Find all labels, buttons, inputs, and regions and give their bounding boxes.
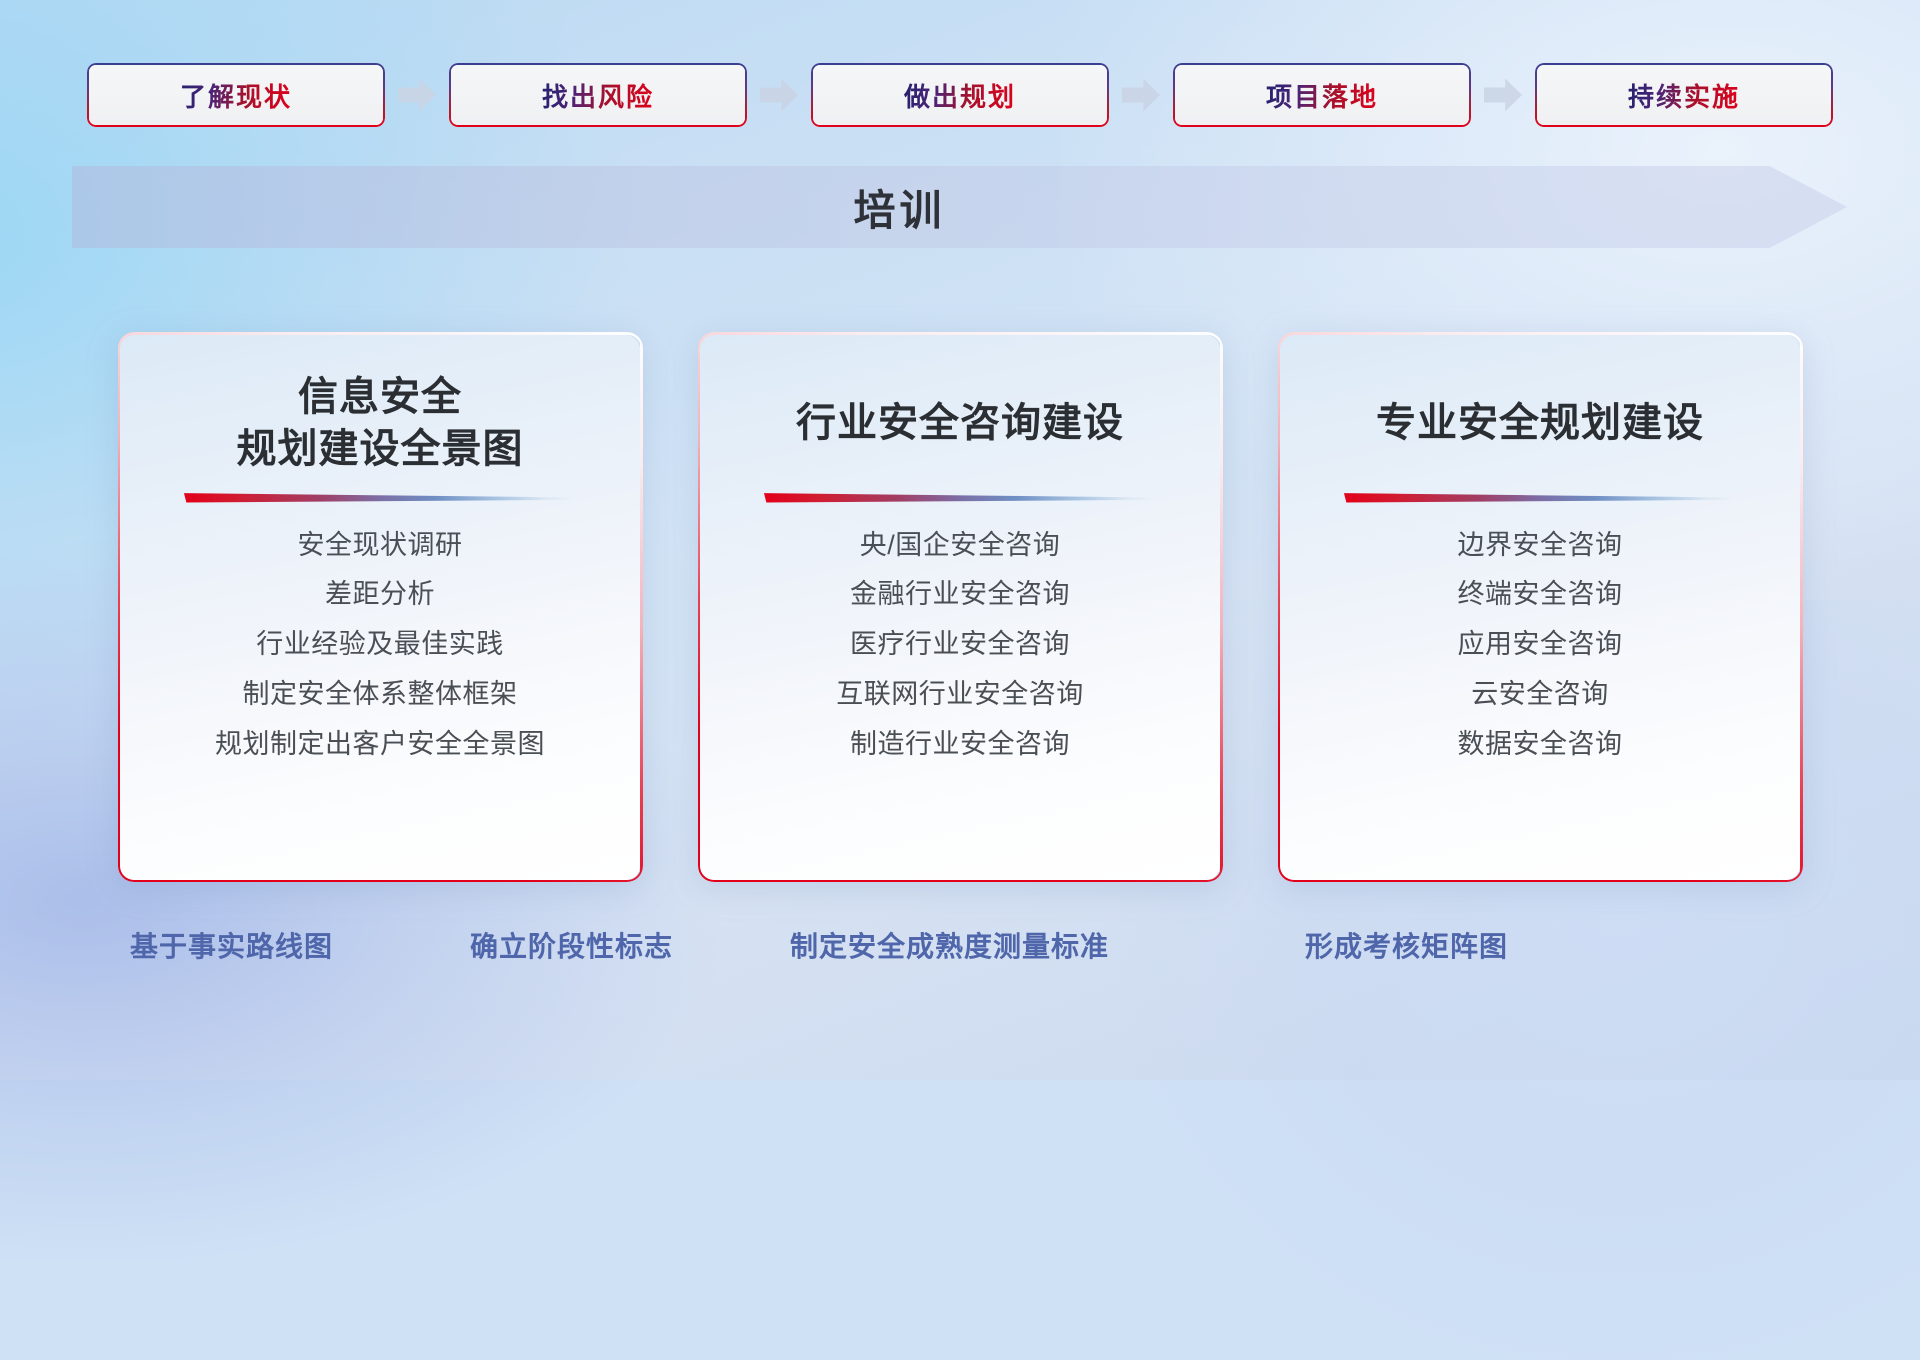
step-button-face: 了解现状 — [89, 65, 383, 125]
footer-label-3: 制定安全成熟度测量标准 — [790, 925, 1109, 965]
step-arrow-icon — [398, 78, 436, 112]
step-arrow-icon — [1122, 78, 1160, 112]
card-list-item: 数据安全咨询 — [1458, 724, 1623, 766]
card-item-list: 央/国企安全咨询金融行业安全咨询医疗行业安全咨询互联网行业安全咨询制造行业安全咨… — [726, 525, 1194, 766]
step-button-3[interactable]: 做出规划 — [811, 63, 1109, 127]
card-title-line: 信息安全 — [237, 371, 524, 423]
card-divider-shape — [1344, 491, 1736, 503]
card-list-item: 差距分析 — [325, 574, 435, 616]
card-list-item: 规划制定出客户安全全景图 — [215, 724, 545, 766]
card-list-item: 应用安全咨询 — [1458, 624, 1623, 666]
step-label: 持续实施 — [1628, 77, 1740, 114]
footer-labels: 基于事实路线图确立阶段性标志制定安全成熟度测量标准形成考核矩阵图 — [0, 925, 1920, 985]
card-title: 专业安全规划建设 — [1376, 371, 1704, 475]
card-list-item: 安全现状调研 — [298, 525, 463, 567]
step-button-1[interactable]: 了解现状 — [87, 63, 385, 127]
footer-label-1: 基于事实路线图 — [130, 925, 333, 965]
card-body: 行业安全咨询建设央/国企安全咨询金融行业安全咨询医疗行业安全咨询互联网行业安全咨… — [700, 335, 1220, 880]
footer-label-2: 确立阶段性标志 — [470, 925, 673, 965]
step-button-5[interactable]: 持续实施 — [1535, 63, 1833, 127]
card-divider — [184, 491, 576, 503]
card-body: 信息安全规划建设全景图安全现状调研差距分析行业经验及最佳实践制定安全体系整体框架… — [120, 335, 640, 880]
card-divider-shape — [184, 491, 576, 503]
card-body: 专业安全规划建设边界安全咨询终端安全咨询应用安全咨询云安全咨询数据安全咨询 — [1280, 335, 1800, 880]
capability-card-3[interactable]: 专业安全规划建设边界安全咨询终端安全咨询应用安全咨询云安全咨询数据安全咨询 — [1278, 332, 1803, 882]
step-button-4[interactable]: 项目落地 — [1173, 63, 1471, 127]
card-title: 行业安全咨询建设 — [796, 371, 1124, 475]
card-divider — [764, 491, 1156, 503]
card-list-item: 金融行业安全咨询 — [850, 574, 1070, 616]
card-list-item: 制造行业安全咨询 — [850, 724, 1070, 766]
step-button-face: 做出规划 — [813, 65, 1107, 125]
card-list-item: 医疗行业安全咨询 — [850, 624, 1070, 666]
training-banner-label: 培训 — [853, 177, 945, 238]
capability-card-2[interactable]: 行业安全咨询建设央/国企安全咨询金融行业安全咨询医疗行业安全咨询互联网行业安全咨… — [698, 332, 1223, 882]
card-list-item: 行业经验及最佳实践 — [256, 624, 504, 666]
card-title-line: 规划建设全景图 — [237, 423, 524, 475]
footer-label-4: 形成考核矩阵图 — [1305, 925, 1508, 965]
step-arrow-icon — [760, 78, 798, 112]
step-button-face: 项目落地 — [1175, 65, 1469, 125]
card-list-item: 终端安全咨询 — [1458, 574, 1623, 616]
step-button-2[interactable]: 找出风险 — [449, 63, 747, 127]
step-button-face: 找出风险 — [451, 65, 745, 125]
step-label: 做出规划 — [904, 77, 1016, 114]
card-list-item: 互联网行业安全咨询 — [836, 674, 1084, 716]
capability-cards: 信息安全规划建设全景图安全现状调研差距分析行业经验及最佳实践制定安全体系整体框架… — [0, 332, 1920, 892]
card-title-line: 行业安全咨询建设 — [796, 397, 1124, 449]
step-label: 项目落地 — [1266, 77, 1378, 114]
card-list-item: 云安全咨询 — [1471, 674, 1609, 716]
card-list-item: 央/国企安全咨询 — [860, 525, 1061, 567]
step-label: 了解现状 — [180, 77, 292, 114]
card-divider — [1344, 491, 1736, 503]
card-list-item: 制定安全体系整体框架 — [243, 674, 518, 716]
card-divider-shape — [764, 491, 1156, 503]
step-arrow-icon — [1484, 78, 1522, 112]
card-title-line: 专业安全规划建设 — [1376, 397, 1704, 449]
step-label: 找出风险 — [542, 77, 654, 114]
card-item-list: 边界安全咨询终端安全咨询应用安全咨询云安全咨询数据安全咨询 — [1306, 525, 1774, 766]
process-steps: 了解现状找出风险做出规划项目落地持续实施 — [0, 62, 1920, 128]
step-button-face: 持续实施 — [1537, 65, 1831, 125]
card-item-list: 安全现状调研差距分析行业经验及最佳实践制定安全体系整体框架规划制定出客户安全全景… — [146, 525, 614, 766]
training-banner: 培训 — [72, 166, 1847, 248]
card-title: 信息安全规划建设全景图 — [237, 371, 524, 475]
card-list-item: 边界安全咨询 — [1458, 525, 1623, 567]
capability-card-1[interactable]: 信息安全规划建设全景图安全现状调研差距分析行业经验及最佳实践制定安全体系整体框架… — [118, 332, 643, 882]
